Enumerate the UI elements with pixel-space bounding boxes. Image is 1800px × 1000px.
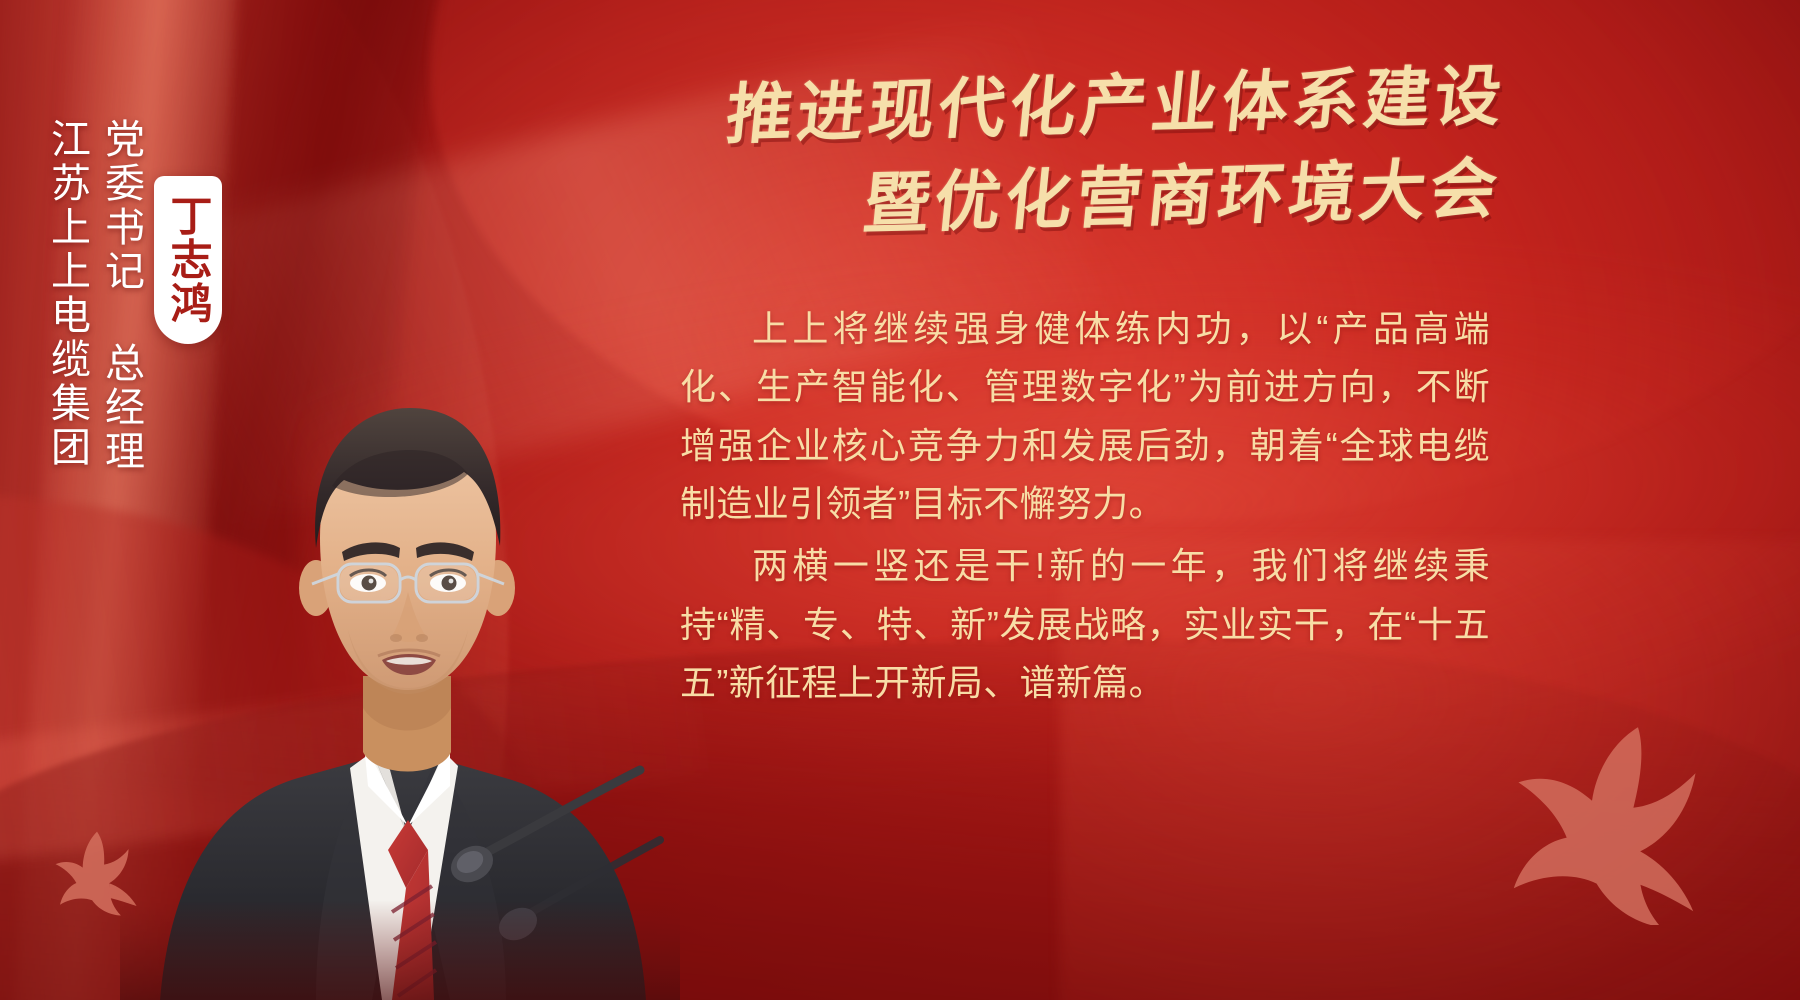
- speaker-name-badge: 丁志鸿: [154, 176, 222, 344]
- headline-line-2: 暨优化营商环境大会: [860, 142, 1745, 244]
- event-headline: 推进现代化产业体系建设 暨优化营商环境大会: [690, 62, 1740, 262]
- dove-icon-right: [1500, 695, 1730, 925]
- quote-paragraph-2: 两横一竖还是干!新的一年，我们将继续秉持“精、专、特、新”发展战略，实业实干，在…: [680, 537, 1490, 712]
- banner-canvas: 江苏上上电缆集团 党委书记 总经理 丁志鸿: [0, 0, 1800, 1000]
- speaker-name: 丁志鸿: [167, 194, 209, 325]
- quote-body: 上上将继续强身健体练内功，以“产品高端化、生产智能化、管理数字化”为前进方向，不…: [680, 300, 1490, 716]
- quote-paragraph-1: 上上将继续强身健体练内功，以“产品高端化、生产智能化、管理数字化”为前进方向，不…: [680, 300, 1490, 533]
- headline-line-1: 推进现代化产业体系建设: [723, 50, 1746, 155]
- speaker-portrait: [120, 300, 680, 1000]
- company-name-vertical: 江苏上上电缆集团: [38, 118, 96, 470]
